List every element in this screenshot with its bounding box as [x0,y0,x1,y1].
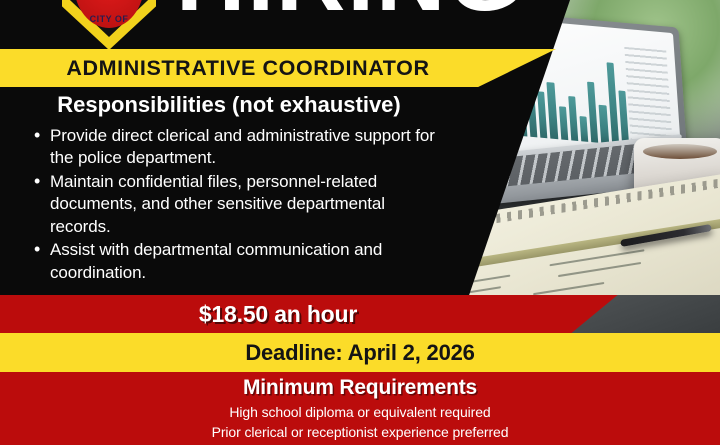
responsibilities-list: Provide direct clerical and administrati… [0,125,470,284]
chart-bar [599,104,609,143]
responsibilities-section: Responsibilities (not exhaustive) Provid… [0,92,470,285]
chart-bar [537,91,547,138]
responsibility-item: Maintain confidential files, personnel-r… [34,171,446,238]
deadline-text: Deadline: April 2, 2026 [245,340,474,366]
minimum-requirements-lines: High school diploma or equivalent requir… [0,403,720,443]
deadline-band: Deadline: April 2, 2026 [0,333,720,372]
handwriting-line [533,282,604,295]
police-shield-badge-icon: CITY OF [62,0,156,50]
job-title-text: ADMINISTRATIVE COORDINATOR [0,56,496,81]
flyer-header: CITY OF HIRING [0,0,720,48]
chart-bar [587,82,598,143]
responsibility-item: Provide direct clerical and administrati… [34,125,446,170]
minimum-requirement-line: Prior clerical or receptionist experienc… [0,423,720,443]
chart-bar [606,63,619,145]
hiring-headline: HIRING [176,0,524,26]
minimum-requirement-line: High school diploma or equivalent requir… [0,403,720,423]
handwriting-line [558,262,641,277]
salary-band: $18.50 an hour [0,295,720,333]
chart-bar [547,82,558,139]
chart-bar [568,96,578,141]
job-posting-flyer: CITY OF HIRING ADMINISTRATIVE COORDINATO… [0,0,720,445]
badge-city-of-text: CITY OF [62,14,156,24]
job-title-band: ADMINISTRATIVE COORDINATOR [0,49,556,87]
minimum-requirements-section: Minimum Requirements High school diploma… [0,372,720,445]
chart-bar [559,107,568,141]
responsibility-item: Assist with departmental communication a… [34,239,446,284]
chart-bar [580,116,589,142]
minimum-requirements-heading: Minimum Requirements [0,376,720,400]
responsibilities-heading: Responsibilities (not exhaustive) [0,92,458,118]
salary-text: $18.50 an hour [0,301,556,328]
